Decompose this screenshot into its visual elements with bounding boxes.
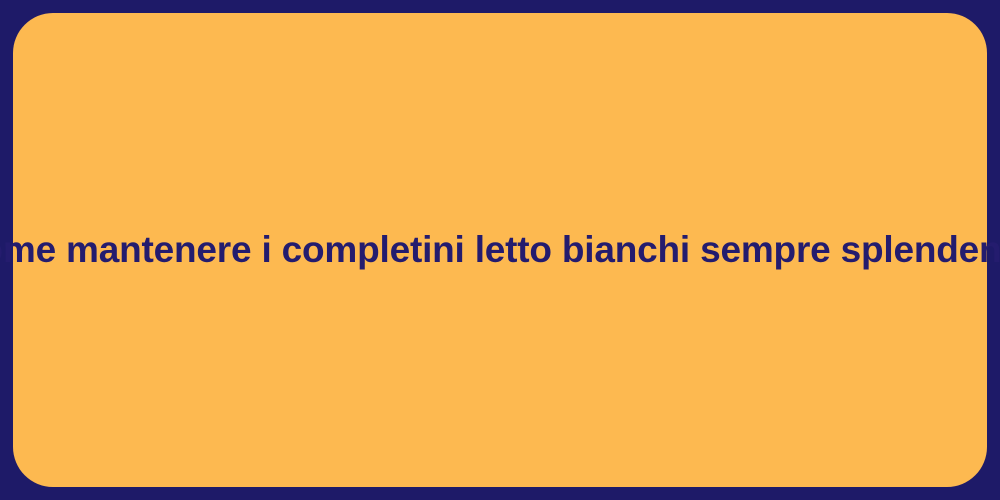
banner-headline: Come mantenere i completini letto bianch… bbox=[0, 227, 1000, 273]
banner-card: Come mantenere i completini letto bianch… bbox=[13, 13, 987, 487]
banner-frame: Come mantenere i completini letto bianch… bbox=[0, 0, 1000, 500]
